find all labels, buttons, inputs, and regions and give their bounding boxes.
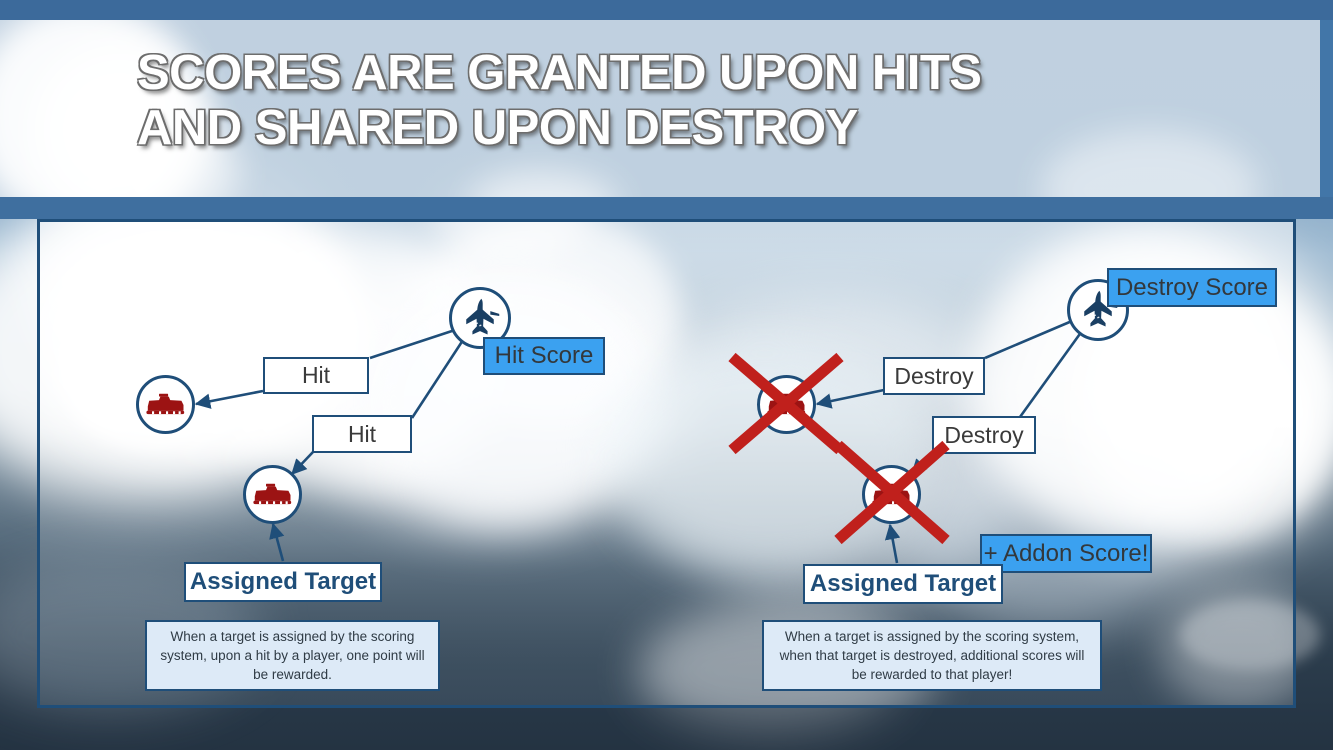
destroy-score-badge[interactable]: Destroy Score	[1107, 268, 1277, 307]
left-assigned-target-text: Assigned Target	[190, 568, 376, 596]
page-title: Scores are granted upon hits and shared …	[137, 46, 1187, 156]
left-target-node-1[interactable]	[136, 375, 195, 434]
destroy-label-lower: Destroy	[932, 416, 1036, 454]
tank-target-icon	[766, 390, 808, 420]
hit-label-upper: Hit	[263, 357, 369, 394]
tank-target-icon	[252, 480, 294, 510]
left-assigned-target-label: Assigned Target	[184, 562, 382, 602]
right-assigned-target-text: Assigned Target	[810, 570, 996, 598]
destroy-score-badge-label: Destroy Score	[1116, 274, 1268, 302]
left-caption-text: When a target is assigned by the scoring…	[156, 627, 429, 684]
right-caption-text: When a target is assigned by the scoring…	[773, 627, 1091, 684]
destroy-label-upper-text: Destroy	[894, 363, 973, 390]
addon-score-badge-label: + Addon Score!	[984, 540, 1149, 568]
hit-label-lower: Hit	[312, 415, 412, 453]
slide-root: Scores are granted upon hits and shared …	[0, 0, 1333, 750]
hit-label-lower-text: Hit	[348, 421, 376, 448]
hit-score-badge[interactable]: Hit Score	[483, 337, 605, 375]
addon-score-badge[interactable]: + Addon Score!	[980, 534, 1152, 573]
tank-target-icon	[145, 390, 187, 420]
left-target-node-2[interactable]	[243, 465, 302, 524]
right-caption-box: When a target is assigned by the scoring…	[762, 620, 1102, 691]
right-assigned-target-label: Assigned Target	[803, 564, 1003, 604]
header-bottom-edge	[0, 197, 1333, 219]
destroy-label-lower-text: Destroy	[944, 422, 1023, 449]
top-accent-strip	[0, 0, 1333, 20]
fighter-jet-icon	[458, 296, 502, 340]
header-right-strip	[1320, 20, 1333, 197]
right-target-node-2[interactable]	[862, 465, 921, 524]
left-caption-box: When a target is assigned by the scoring…	[145, 620, 440, 691]
destroy-label-upper: Destroy	[883, 357, 985, 395]
hit-label-upper-text: Hit	[302, 362, 330, 389]
right-target-node-1[interactable]	[757, 375, 816, 434]
hit-score-badge-label: Hit Score	[495, 342, 594, 370]
tank-target-icon	[871, 480, 913, 510]
